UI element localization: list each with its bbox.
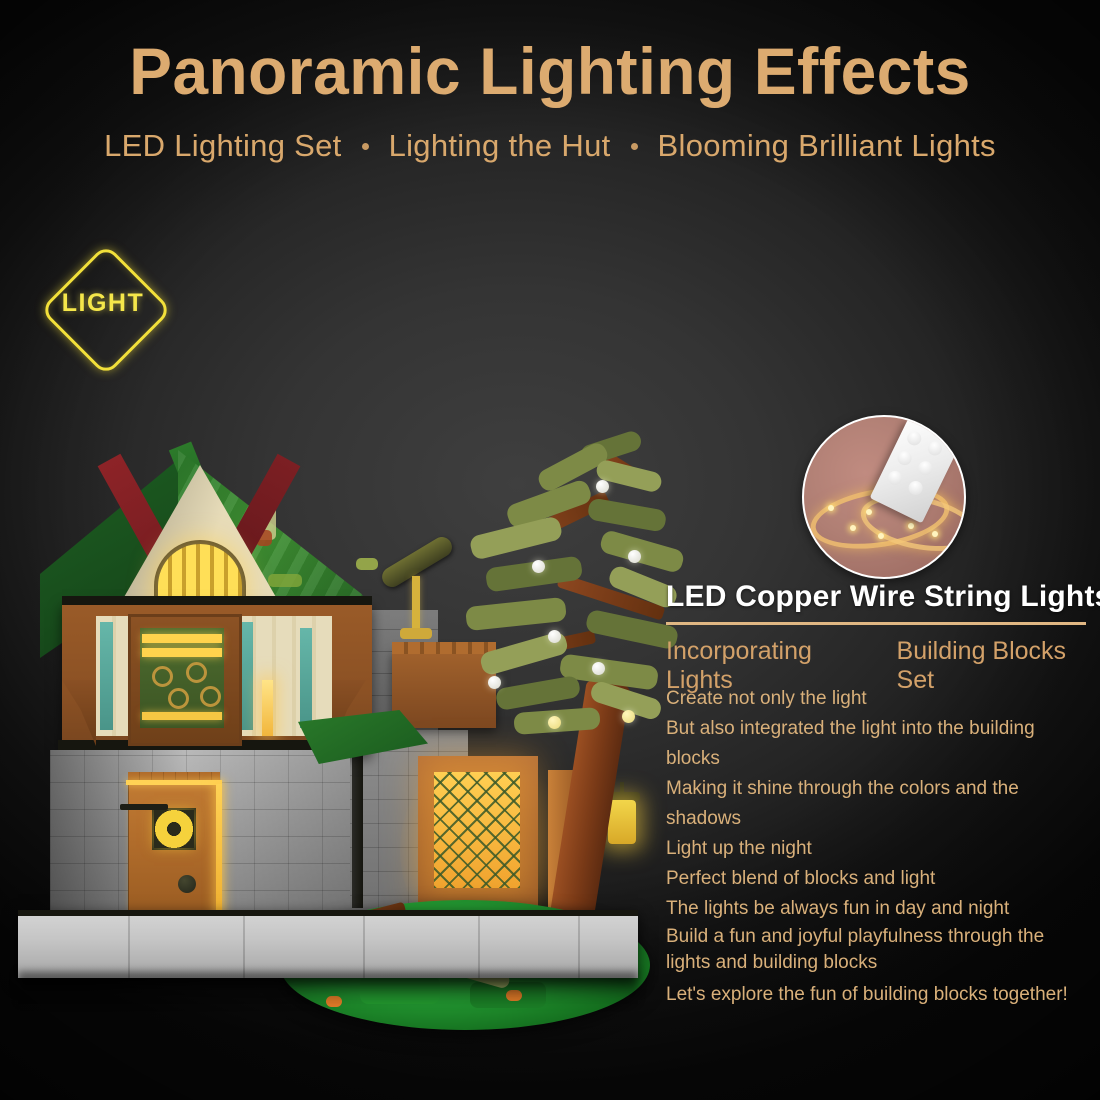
telescope-stand [412, 576, 420, 630]
lantern-icon [608, 800, 636, 844]
promo-banner: Panoramic Lighting Effects LED Lighting … [0, 0, 1100, 1100]
door-handle-icon [120, 804, 168, 810]
swirl-ornament-icon [186, 662, 207, 683]
panel-heading: LED Copper Wire String Lights [666, 580, 1090, 614]
subtitle-part-3: Blooming Brilliant Lights [658, 128, 996, 164]
led-bulb-icon [596, 480, 609, 493]
door-edge-glow [216, 784, 222, 916]
description-line: Perfect blend of blocks and light [666, 864, 1090, 894]
led-bulb-icon [592, 662, 605, 675]
teal-window-strip [300, 628, 312, 728]
door-lintel-glow [126, 780, 222, 785]
description-line: Create not only the light [666, 684, 1090, 714]
led-bulb-icon [532, 560, 545, 573]
swirl-ornament-icon [168, 688, 189, 709]
swirl-ornament-icon [200, 686, 221, 707]
lit-bar [142, 712, 222, 720]
teal-window-strip [100, 622, 113, 730]
wire-led-spark [866, 509, 872, 515]
telescope-base [400, 628, 432, 639]
wire-led-spark [850, 525, 856, 531]
light-badge: LIGHT [45, 249, 161, 365]
subtitle-part-1: LED Lighting Set [104, 128, 341, 164]
panel-description-list: Create not only the light But also integ… [666, 684, 1090, 1010]
door-window-glow [154, 810, 194, 848]
description-line: Let's explore the fun of building blocks… [666, 980, 1090, 1010]
panel-divider [666, 622, 1086, 625]
description-line: The lights be always fun in day and nigh… [666, 894, 1090, 924]
lit-window-strip [262, 680, 273, 736]
lit-bar [142, 634, 222, 643]
tree-foliage [598, 529, 685, 574]
display-base-plinth [18, 910, 638, 978]
light-badge-label: LIGHT [45, 289, 161, 318]
led-bulb-icon [628, 550, 641, 563]
led-bulb-icon [622, 710, 635, 723]
header: Panoramic Lighting Effects LED Lighting … [0, 0, 1100, 164]
product-photo-inset [802, 415, 966, 579]
description-line: Build a fun and joyful playfulness throu… [666, 924, 1090, 976]
tree-foliage [495, 675, 582, 711]
wire-led-spark [908, 523, 914, 529]
door-knob-icon [178, 875, 196, 893]
balcony-railing [392, 642, 496, 654]
led-bulb-icon [548, 716, 561, 729]
extension-window-lattice [434, 772, 520, 888]
description-line: Light up the night [666, 834, 1090, 864]
swirl-ornament-icon [152, 666, 173, 687]
tree-foliage [587, 497, 668, 532]
wire-led-spark [828, 505, 834, 511]
plinth-shadow [18, 972, 638, 1006]
subtitle-row: LED Lighting Set Lighting the Hut Bloomi… [0, 128, 1100, 164]
page-title: Panoramic Lighting Effects [17, 38, 1084, 104]
bullet-separator-icon [631, 143, 638, 150]
wire-led-spark [878, 533, 884, 539]
led-bulb-icon [488, 676, 501, 689]
wire-led-spark [932, 531, 938, 537]
bullet-separator-icon [362, 143, 369, 150]
roof-moss-patch [356, 558, 378, 570]
description-line: But also integrated the light into the b… [666, 714, 1090, 774]
tree-foliage [465, 597, 567, 631]
led-bulb-icon [548, 630, 561, 643]
subtitle-part-2: Lighting the Hut [389, 128, 611, 164]
lit-bar [142, 648, 222, 657]
upper-trim-top [62, 596, 372, 605]
chimney-pipe [352, 738, 363, 908]
description-line: Making it shine through the colors and t… [666, 774, 1090, 834]
